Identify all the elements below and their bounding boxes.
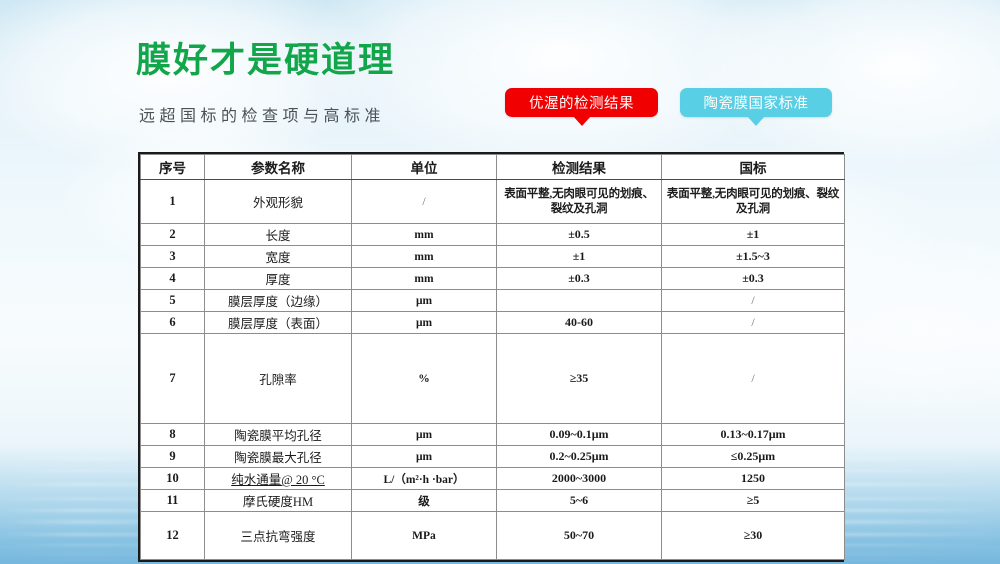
- table-row: 12 三点抗弯强度 MPa 50~70 ≥30: [141, 512, 845, 560]
- cell-name: 摩氏硬度HM: [205, 490, 352, 512]
- col-header-no: 序号: [141, 155, 205, 180]
- slide-canvas: 膜好才是硬道理 远超国标的检查项与高标准 优渥的检测结果 陶瓷膜国家标准 序号 …: [0, 0, 1000, 564]
- table-row: 6 膜层厚度（表面） μm 40-60 /: [141, 312, 845, 334]
- table-row: 10 纯水通量@ 20 °C L/（m²·h ·bar） 2000~3000 1…: [141, 468, 845, 490]
- cell-unit: mm: [352, 224, 497, 246]
- cell-no: 9: [141, 446, 205, 468]
- cell-name: 三点抗弯强度: [205, 512, 352, 560]
- cell-unit: μm: [352, 312, 497, 334]
- cell-name: 宽度: [205, 246, 352, 268]
- cell-standard: ≤0.25μm: [662, 446, 845, 468]
- cell-no: 1: [141, 180, 205, 224]
- cell-no: 5: [141, 290, 205, 312]
- cell-name: 孔隙率: [205, 334, 352, 424]
- badge-test-result-label: 优渥的检测结果: [529, 92, 634, 113]
- callout-tail-icon: [747, 116, 765, 126]
- cell-standard: ±0.3: [662, 268, 845, 290]
- cell-no: 7: [141, 334, 205, 424]
- cell-name: 膜层厚度（边缘）: [205, 290, 352, 312]
- cell-result: 0.09~0.1μm: [497, 424, 662, 446]
- cell-no: 2: [141, 224, 205, 246]
- table-row: 5 膜层厚度（边缘） μm /: [141, 290, 845, 312]
- cell-result: ±0.3: [497, 268, 662, 290]
- table-row: 2 长度 mm ±0.5 ±1: [141, 224, 845, 246]
- col-header-unit: 单位: [352, 155, 497, 180]
- cell-standard: /: [662, 290, 845, 312]
- cell-result: ±1: [497, 246, 662, 268]
- table-row: 9 陶瓷膜最大孔径 μm 0.2~0.25μm ≤0.25μm: [141, 446, 845, 468]
- badge-test-result: 优渥的检测结果: [505, 88, 658, 117]
- cell-standard: ≥30: [662, 512, 845, 560]
- col-header-standard: 国标: [662, 155, 845, 180]
- spec-table-container: 序号 参数名称 单位 检测结果 国标 1 外观形貌 / 表面平整,无肉眼可见的划…: [138, 152, 844, 562]
- table-row: 1 外观形貌 / 表面平整,无肉眼可见的划痕、裂纹及孔洞 表面平整,无肉眼可见的…: [141, 180, 845, 224]
- col-header-name: 参数名称: [205, 155, 352, 180]
- cell-name: 陶瓷膜最大孔径: [205, 446, 352, 468]
- cell-result: 2000~3000: [497, 468, 662, 490]
- cell-name-link[interactable]: 纯水通量@ 20 °C: [231, 473, 325, 487]
- cell-result: [497, 290, 662, 312]
- table-header-row: 序号 参数名称 单位 检测结果 国标: [141, 155, 845, 180]
- cell-unit: /: [352, 180, 497, 224]
- callout-tail-icon: [573, 116, 591, 126]
- cell-result: 40-60: [497, 312, 662, 334]
- cell-result: 50~70: [497, 512, 662, 560]
- cell-result: 5~6: [497, 490, 662, 512]
- cell-standard: /: [662, 334, 845, 424]
- cell-no: 4: [141, 268, 205, 290]
- cell-unit: MPa: [352, 512, 497, 560]
- cell-name: 陶瓷膜平均孔径: [205, 424, 352, 446]
- cell-name: 厚度: [205, 268, 352, 290]
- cell-no: 10: [141, 468, 205, 490]
- cell-name: 纯水通量@ 20 °C: [205, 468, 352, 490]
- badge-national-standard-label: 陶瓷膜国家标准: [704, 92, 809, 113]
- table-row: 11 摩氏硬度HM 级 5~6 ≥5: [141, 490, 845, 512]
- cell-unit: %: [352, 334, 497, 424]
- cell-name: 膜层厚度（表面）: [205, 312, 352, 334]
- cell-standard: 0.13~0.17μm: [662, 424, 845, 446]
- table-row: 4 厚度 mm ±0.3 ±0.3: [141, 268, 845, 290]
- cell-result: 表面平整,无肉眼可见的划痕、裂纹及孔洞: [497, 180, 662, 224]
- cell-unit: 级: [352, 490, 497, 512]
- cell-no: 6: [141, 312, 205, 334]
- cell-no: 3: [141, 246, 205, 268]
- badge-national-standard: 陶瓷膜国家标准: [680, 88, 832, 117]
- table-row: 7 孔隙率 % ≥35 /: [141, 334, 845, 424]
- cell-unit: μm: [352, 290, 497, 312]
- cell-standard: ±1.5~3: [662, 246, 845, 268]
- cell-unit: L/（m²·h ·bar）: [352, 468, 497, 490]
- cell-unit: mm: [352, 268, 497, 290]
- cell-name: 外观形貌: [205, 180, 352, 224]
- cell-unit: mm: [352, 246, 497, 268]
- cell-no: 8: [141, 424, 205, 446]
- col-header-result: 检测结果: [497, 155, 662, 180]
- table-row: 8 陶瓷膜平均孔径 μm 0.09~0.1μm 0.13~0.17μm: [141, 424, 845, 446]
- cloud-decoration: [690, 0, 1000, 170]
- spec-table: 序号 参数名称 单位 检测结果 国标 1 外观形貌 / 表面平整,无肉眼可见的划…: [140, 154, 845, 560]
- cell-name: 长度: [205, 224, 352, 246]
- cell-unit: μm: [352, 424, 497, 446]
- cell-standard: 表面平整,无肉眼可见的划痕、裂纹及孔洞: [662, 180, 845, 224]
- cell-no: 12: [141, 512, 205, 560]
- cell-result: ≥35: [497, 334, 662, 424]
- cell-standard: ≥5: [662, 490, 845, 512]
- cell-standard: ±1: [662, 224, 845, 246]
- cell-standard: /: [662, 312, 845, 334]
- cell-result: ±0.5: [497, 224, 662, 246]
- cell-unit: μm: [352, 446, 497, 468]
- page-subtitle: 远超国标的检查项与高标准: [139, 108, 385, 124]
- page-title: 膜好才是硬道理: [136, 44, 395, 79]
- cell-result: 0.2~0.25μm: [497, 446, 662, 468]
- table-row: 3 宽度 mm ±1 ±1.5~3: [141, 246, 845, 268]
- cell-standard: 1250: [662, 468, 845, 490]
- cell-no: 11: [141, 490, 205, 512]
